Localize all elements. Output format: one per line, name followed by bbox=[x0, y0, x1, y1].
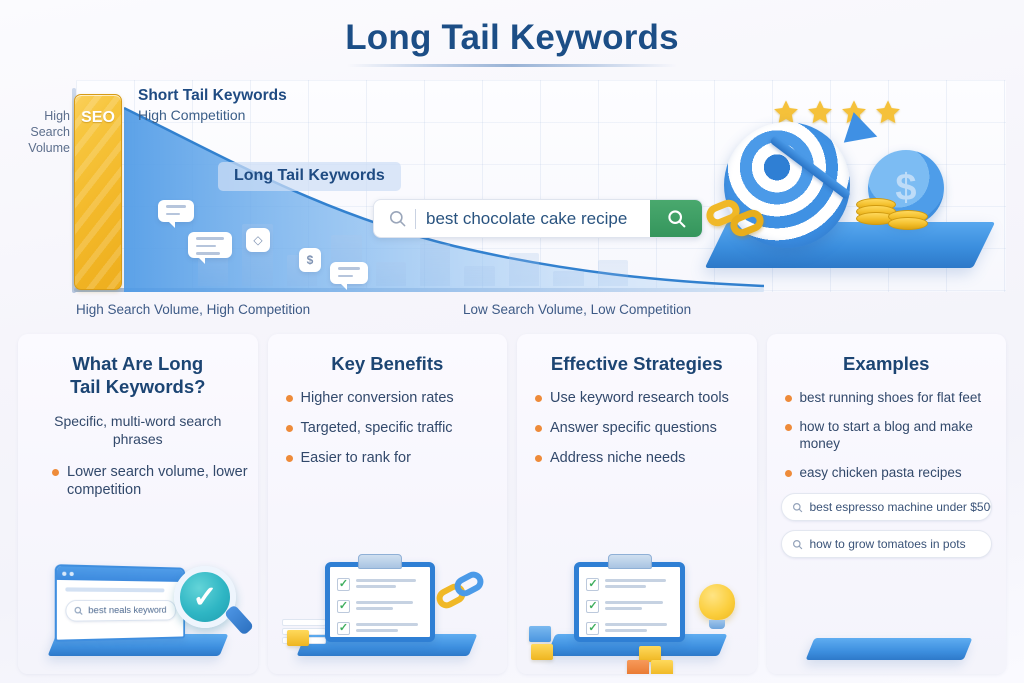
infographic-canvas: Long Tail Keywords High Search Volume bbox=[0, 0, 1024, 683]
star-icon bbox=[806, 98, 834, 126]
card-illustration: ✓ ✓ ✓ bbox=[268, 544, 508, 674]
clipboard-checklist-icon: ✓ ✓ ✓ bbox=[574, 562, 684, 642]
speech-bubble-icon bbox=[330, 262, 368, 284]
list-item: Easier to rank for bbox=[286, 449, 508, 468]
art-platform bbox=[805, 638, 972, 660]
tag-badge-icon: ◇ bbox=[246, 228, 270, 252]
list-item: Use keyword research tools bbox=[535, 389, 757, 408]
clipboard-clip bbox=[608, 554, 652, 569]
card-bullet-list: Higher conversion rates Targeted, specif… bbox=[286, 389, 508, 468]
search-pill[interactable]: how to grow tomatoes in pots bbox=[781, 530, 993, 558]
card-title-line1: What Are Long bbox=[72, 353, 203, 374]
card-illustration bbox=[767, 604, 1007, 674]
list-item: best running shoes for flat feet bbox=[785, 389, 1007, 407]
chart-y-axis-label: High Search Volume bbox=[18, 108, 70, 156]
card-bullet-list: best running shoes for flat feet how to … bbox=[785, 389, 1007, 481]
search-icon bbox=[792, 502, 803, 513]
chart-caption-right: Low Search Volume, Low Competition bbox=[463, 302, 691, 317]
browser-titlebar bbox=[57, 566, 184, 582]
check-icon: ✓ bbox=[337, 600, 350, 613]
chart-caption-left: High Search Volume, High Competition bbox=[76, 302, 310, 317]
list-item: how to start a blog and make money bbox=[785, 418, 1007, 453]
clipboard-checklist-icon: ✓ ✓ ✓ bbox=[325, 562, 435, 642]
browser-search-field: best neals keyword bbox=[66, 600, 177, 622]
list-item: Targeted, specific traffic bbox=[286, 419, 508, 438]
speech-bubble-icon bbox=[188, 232, 232, 258]
chain-link-icon bbox=[436, 572, 488, 616]
check-icon: ✓ bbox=[337, 622, 350, 635]
browser-window-icon: best neals keyword bbox=[55, 564, 185, 642]
chart-search-button[interactable] bbox=[650, 199, 702, 238]
check-icon: ✓ bbox=[586, 622, 599, 635]
title-block: Long Tail Keywords bbox=[0, 18, 1024, 67]
chart-search-box[interactable]: best chocolate cake recipe bbox=[373, 199, 703, 238]
long-tail-chart: High Search Volume bbox=[18, 80, 1006, 320]
page-title: Long Tail Keywords bbox=[0, 18, 1024, 58]
title-underline bbox=[347, 64, 677, 67]
card-title: Effective Strategies bbox=[529, 352, 745, 375]
seo-bar-label: SEO bbox=[75, 109, 121, 127]
check-icon: ✓ bbox=[586, 600, 599, 613]
card-examples: Examples best running shoes for flat fee… bbox=[767, 334, 1007, 674]
short-tail-title: Short Tail Keywords bbox=[138, 86, 287, 106]
chart-search-query: best chocolate cake recipe bbox=[415, 209, 650, 229]
check-icon: ✓ bbox=[586, 578, 599, 591]
search-pill-text: how to grow tomatoes in pots bbox=[810, 537, 966, 551]
long-tail-label-chip: Long Tail Keywords bbox=[218, 162, 401, 191]
lightbulb-icon bbox=[699, 584, 735, 620]
card-effective-strategies: Effective Strategies Use keyword researc… bbox=[517, 334, 757, 674]
search-icon bbox=[792, 539, 803, 550]
short-tail-callout: Short Tail Keywords High Competition bbox=[138, 86, 287, 125]
list-item: Answer specific questions bbox=[535, 419, 757, 438]
browser-search-query: best neals keyword bbox=[88, 605, 166, 616]
list-item: easy chicken pasta recipes bbox=[785, 464, 1007, 482]
card-title: What Are Long Tail Keywords? bbox=[30, 352, 246, 398]
list-item: Higher conversion rates bbox=[286, 389, 508, 408]
search-icon bbox=[74, 606, 83, 615]
dollar-badge-icon: $ bbox=[299, 248, 321, 272]
clipboard-clip bbox=[358, 554, 402, 569]
search-icon bbox=[388, 209, 407, 228]
list-item: Lower search volume, lower competition bbox=[52, 463, 258, 501]
card-bullet-list: Use keyword research tools Answer specif… bbox=[535, 389, 757, 468]
cards-row: What Are Long Tail Keywords? Specific, m… bbox=[18, 334, 1006, 674]
card-title: Key Benefits bbox=[280, 352, 496, 375]
example-search-pills: best espresso machine under $500 how to … bbox=[781, 493, 993, 558]
check-icon: ✓ bbox=[337, 578, 350, 591]
list-item: Address niche needs bbox=[535, 449, 757, 468]
card-title: Examples bbox=[779, 352, 995, 375]
search-pill-text: best espresso machine under $500 bbox=[810, 500, 993, 514]
card-what-are-long-tail-keywords: What Are Long Tail Keywords? Specific, m… bbox=[18, 334, 258, 674]
seo-bar: SEO bbox=[74, 94, 122, 290]
card-illustration: best neals keyword ✓ bbox=[18, 544, 258, 674]
search-pill[interactable]: best espresso machine under $500 bbox=[781, 493, 993, 521]
card-key-benefits: Key Benefits Higher conversion rates Tar… bbox=[268, 334, 508, 674]
card-lead-text: Specific, multi-word search phrases bbox=[30, 412, 246, 448]
speech-bubble-icon bbox=[158, 200, 194, 222]
short-tail-subtitle: High Competition bbox=[138, 106, 287, 124]
card-title-line2: Tail Keywords? bbox=[70, 376, 205, 397]
target-illustration: $ bbox=[710, 98, 996, 303]
card-illustration: ✓ ✓ ✓ bbox=[517, 544, 757, 674]
card-bullet-list: Lower search volume, lower competition bbox=[52, 463, 258, 501]
magnifier-check-icon: ✓ bbox=[174, 566, 236, 628]
